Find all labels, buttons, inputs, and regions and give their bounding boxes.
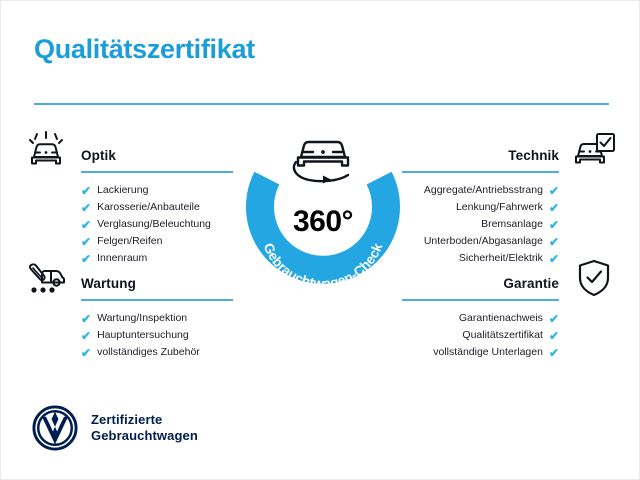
badge-360-gebrauchtwagen-check: Gebrauchtwagen-Check 360°	[233, 121, 413, 301]
list-item-label: Lenkung/Fahrwerk	[456, 199, 543, 216]
check-icon: ✔	[81, 185, 91, 197]
list-item: Garantienachweis✔	[402, 310, 617, 327]
list-item-label: vollständiges Zubehör	[97, 344, 200, 361]
list-item: ✔Felgen/Reifen	[23, 233, 233, 250]
section-header: Optik	[23, 129, 233, 173]
section-technik: Technik Aggregate/Antriebsstrang✔ Lenkun…	[402, 129, 617, 267]
vw-certified-line2: Gebrauchtwagen	[91, 428, 198, 444]
section-divider	[402, 299, 559, 301]
checklist: ✔Wartung/Inspektion ✔Hauptuntersuchung ✔…	[23, 310, 233, 361]
list-item: Unterboden/Abgasanlage✔	[402, 233, 617, 250]
section-divider	[402, 171, 559, 173]
list-item: ✔Karosserie/Anbauteile	[23, 199, 233, 216]
checklist: Aggregate/Antriebsstrang✔ Lenkung/Fahrwe…	[402, 182, 617, 267]
section-header: Garantie	[402, 257, 617, 301]
checklist: ✔Lackierung ✔Karosserie/Anbauteile ✔Verg…	[23, 182, 233, 267]
vw-certified-text: Zertifizierte Gebrauchtwagen	[91, 412, 198, 444]
check-icon: ✔	[549, 330, 559, 342]
list-item: Qualitätszertifikat✔	[402, 327, 617, 344]
list-item: ✔Lackierung	[23, 182, 233, 199]
check-icon: ✔	[81, 313, 91, 325]
check-icon: ✔	[81, 219, 91, 231]
list-item: Bremsanlage✔	[402, 216, 617, 233]
header-divider	[34, 103, 609, 105]
check-icon: ✔	[549, 313, 559, 325]
list-item-label: Wartung/Inspektion	[97, 310, 187, 327]
list-item-label: Lackierung	[97, 182, 148, 199]
list-item: ✔Verglasung/Beleuchtung	[23, 216, 233, 233]
section-title: Wartung	[81, 276, 136, 291]
section-header: Technik	[402, 129, 617, 173]
section-wartung: Wartung ✔Wartung/Inspektion ✔Hauptunters…	[23, 257, 233, 361]
vw-certified-line1: Zertifizierte	[91, 412, 198, 428]
list-item-label: Aggregate/Antriebsstrang	[424, 182, 543, 199]
list-item: ✔vollständiges Zubehör	[23, 344, 233, 361]
check-icon: ✔	[81, 347, 91, 359]
section-title: Optik	[81, 148, 116, 163]
check-icon: ✔	[549, 347, 559, 359]
page-title: Qualitätszertifikat	[34, 34, 255, 65]
section-divider	[81, 171, 233, 173]
section-header: Wartung	[23, 257, 233, 301]
list-item-label: Bremsanlage	[481, 216, 543, 233]
list-item: Aggregate/Antriebsstrang✔	[402, 182, 617, 199]
wrench-car-icon	[23, 257, 69, 299]
check-icon: ✔	[549, 236, 559, 248]
quality-certificate-page: Qualitätszertifikat	[0, 0, 640, 480]
section-garantie: Garantie Garantienachweis✔ Qualitätszert…	[402, 257, 617, 361]
check-icon: ✔	[81, 330, 91, 342]
shield-check-icon	[571, 257, 617, 299]
vw-logo-icon	[32, 405, 78, 451]
car-shine-icon	[23, 129, 69, 171]
section-optik: Optik ✔Lackierung ✔Karosserie/Anbauteile…	[23, 129, 233, 267]
list-item: ✔Hauptuntersuchung	[23, 327, 233, 344]
list-item-label: Unterboden/Abgasanlage	[424, 233, 543, 250]
list-item-label: Karosserie/Anbauteile	[97, 199, 200, 216]
check-icon: ✔	[549, 219, 559, 231]
check-icon: ✔	[549, 185, 559, 197]
check-icon: ✔	[549, 202, 559, 214]
section-title: Garantie	[503, 276, 559, 291]
list-item: Lenkung/Fahrwerk✔	[402, 199, 617, 216]
list-item: ✔Wartung/Inspektion	[23, 310, 233, 327]
section-title: Technik	[508, 148, 559, 163]
list-item-label: vollständige Unterlagen	[433, 344, 543, 361]
checklist: Garantienachweis✔ Qualitätszertifikat✔ v…	[402, 310, 617, 361]
car-checkbox-icon	[571, 129, 617, 171]
check-icon: ✔	[81, 202, 91, 214]
list-item-label: Hauptuntersuchung	[97, 327, 189, 344]
check-icon: ✔	[81, 236, 91, 248]
section-divider	[81, 299, 233, 301]
vw-certified-lockup: Zertifizierte Gebrauchtwagen	[32, 405, 198, 451]
list-item-label: Qualitätszertifikat	[462, 327, 543, 344]
badge-center-label: 360°	[233, 205, 413, 239]
list-item-label: Garantienachweis	[459, 310, 543, 327]
list-item: vollständige Unterlagen✔	[402, 344, 617, 361]
list-item-label: Felgen/Reifen	[97, 233, 162, 250]
list-item-label: Verglasung/Beleuchtung	[97, 216, 211, 233]
